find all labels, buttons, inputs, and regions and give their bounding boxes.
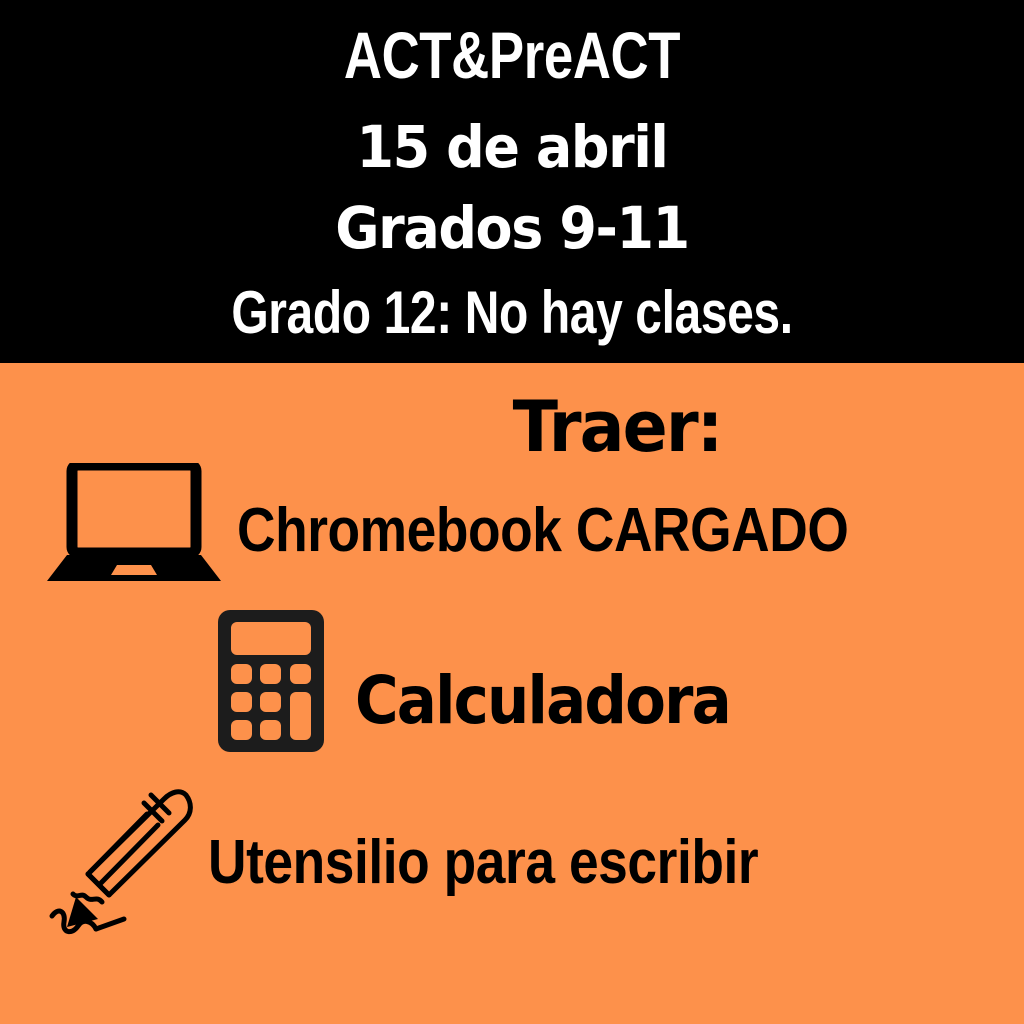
exam-date-text: 15 de abril <box>36 118 988 176</box>
laptop-icon <box>45 463 223 585</box>
grade-12-no-classes-text: Grado 12: No hay clases. <box>102 283 921 343</box>
bring-heading: Traer: <box>131 392 1024 462</box>
list-item-label-chromebook: Chromebook CARGADO <box>237 500 848 562</box>
calculator-icon <box>215 607 327 755</box>
grades-included-text: Grados 9-11 <box>36 199 988 257</box>
list-item-label-calculator: Calculadora <box>355 668 730 734</box>
act-preact-poster: ACT&PreACT 15 de abril Grados 9-11 Grado… <box>0 0 1024 1024</box>
list-item-label-writing-utensil: Utensilio para escribir <box>208 832 758 894</box>
poster-title: ACT&PreACT <box>102 22 921 88</box>
pencil-icon <box>40 783 220 943</box>
